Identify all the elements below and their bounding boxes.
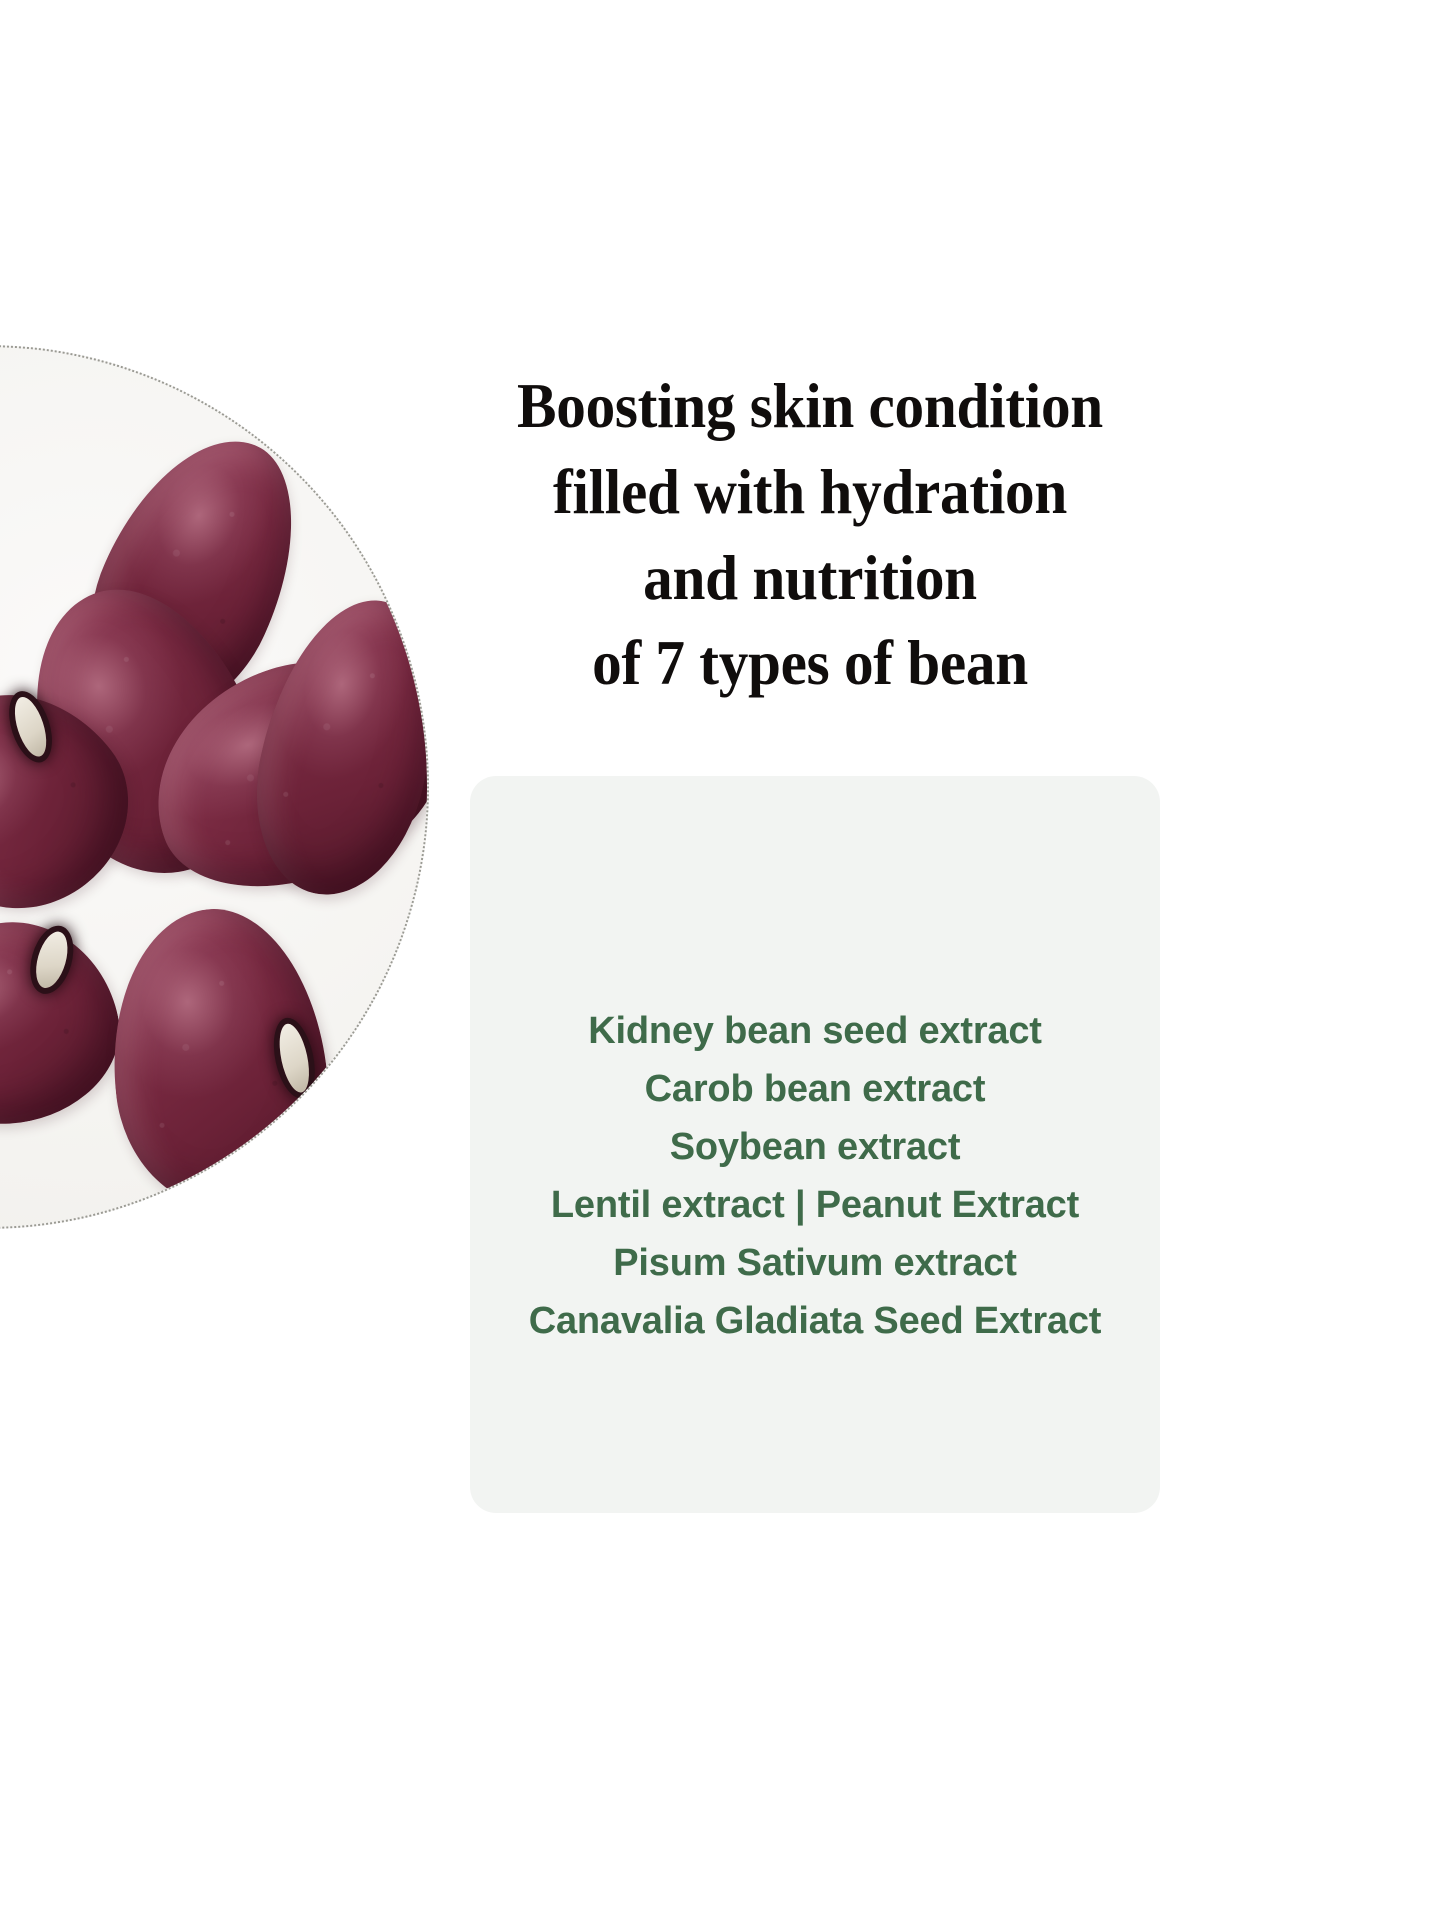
ingredient-panel: Kidney bean seed extract Carob bean extr… [470, 776, 1160, 1513]
headline-line-2: filled with hydration [453, 450, 1167, 536]
bean-photo-circle [0, 345, 429, 1229]
bean-hilum-5 [9, 693, 53, 760]
ingredient-item-1: Kidney bean seed extract [470, 1002, 1160, 1060]
headline-line-1: Boosting skin condition [453, 364, 1167, 450]
bean-6 [0, 903, 135, 1143]
ingredient-item-5: Pisum Sativum extract [470, 1234, 1160, 1292]
bean-photo-backdrop [0, 347, 427, 1227]
bean-7 [98, 899, 340, 1220]
bean-hilum-6 [30, 928, 73, 991]
headline-line-4: of 7 types of bean [453, 621, 1167, 707]
ingredient-list: Kidney bean seed extract Carob bean extr… [470, 1002, 1160, 1350]
bean-hilum-7 [274, 1021, 314, 1095]
marketing-page: Boosting skin condition filled with hydr… [0, 0, 1445, 1927]
page-headline: Boosting skin condition filled with hydr… [453, 364, 1167, 707]
ingredient-item-4: Lentil extract | Peanut Extract [470, 1176, 1160, 1234]
ingredient-item-6: Canavalia Gladiata Seed Extract [470, 1292, 1160, 1350]
headline-line-3: and nutrition [453, 536, 1167, 622]
ingredient-item-2: Carob bean extract [470, 1060, 1160, 1118]
ingredient-item-3: Soybean extract [470, 1118, 1160, 1176]
